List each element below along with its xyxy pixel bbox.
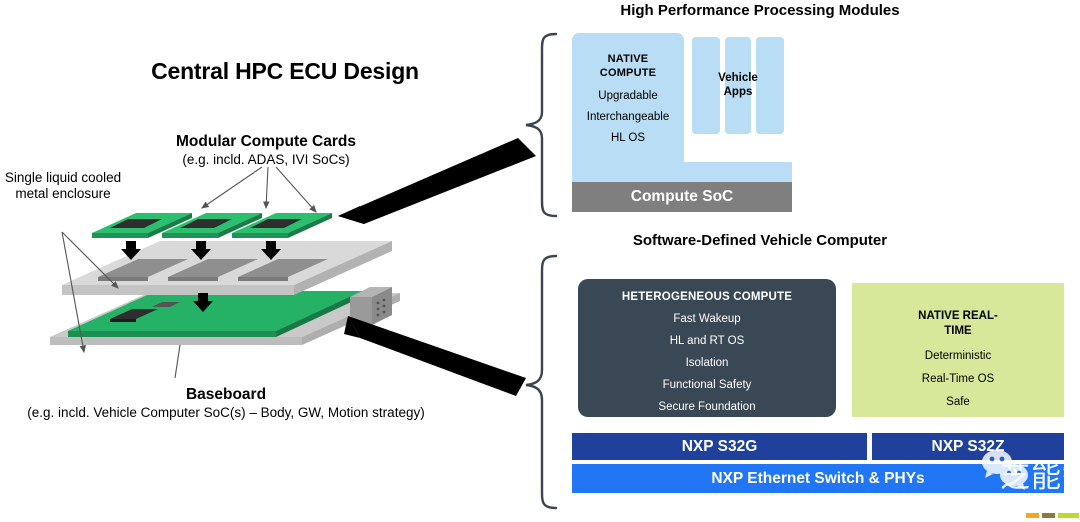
callout-baseboard-title: Baseboard [0, 386, 452, 405]
heterogeneous-compute-box: HETEROGENEOUS COMPUTE Fast Wakeup HL and… [578, 279, 836, 417]
page-title: Central HPC ECU Design [120, 58, 450, 85]
native-real-time-heading-line2: TIME [852, 324, 1064, 339]
callout-enclosure: Single liquid cooled metal enclosure [4, 170, 122, 203]
vehicle-apps-line2: Apps [690, 85, 786, 99]
high-performance-processing-modules-title: High Performance Processing Modules [560, 2, 960, 19]
heterogeneous-item-2: Isolation [578, 357, 836, 369]
heterogeneous-item-3: Functional Safety [578, 379, 836, 391]
software-defined-vehicle-computer-title: Software-Defined Vehicle Computer [560, 232, 960, 249]
native-real-time-item-0: Deterministic [852, 350, 1064, 362]
heterogeneous-compute-heading: HETEROGENEOUS COMPUTE [578, 291, 836, 303]
callout-baseboard-subtitle: (e.g. incld. Vehicle Computer SoC(s) – B… [0, 405, 452, 421]
ecu-3d-illustration [40, 185, 460, 390]
watermark-text: 芝能智芯 [1000, 452, 1080, 496]
heterogeneous-item-4: Secure Foundation [578, 401, 836, 413]
compute-soc-bar: Compute SoC [572, 182, 792, 212]
native-real-time-heading-line1: NATIVE REAL- [852, 309, 1064, 324]
vehicle-apps-line1: Vehicle [690, 71, 786, 85]
native-compute-item-1: Interchangeable [572, 111, 684, 123]
native-real-time-item-1: Real-Time OS [852, 373, 1064, 385]
callout-cards-subtitle: (e.g. incld. ADAS, IVI SoCs) [148, 152, 384, 168]
callout-cards-title: Modular Compute Cards [148, 133, 384, 152]
callout-baseboard: Baseboard (e.g. incld. Vehicle Computer … [0, 386, 452, 421]
brace-bottom-panel [512, 252, 562, 514]
nxp-s32g-bar: NXP S32G [572, 433, 867, 460]
vehicle-apps-label: Vehicle Apps [690, 71, 786, 100]
native-real-time-box: NATIVE REAL- TIME Deterministic Real-Tim… [852, 283, 1064, 417]
brace-top-panel [512, 30, 562, 222]
heterogeneous-item-0: Fast Wakeup [578, 313, 836, 325]
heterogeneous-item-1: HL and RT OS [578, 335, 836, 347]
native-compute-heading-line2: COMPUTE [572, 67, 684, 81]
native-compute-item-0: Upgradable [572, 90, 684, 102]
native-compute-heading-line1: NATIVE [572, 53, 684, 67]
native-compute-item-2: HL OS [572, 132, 684, 144]
callout-modular-compute-cards: Modular Compute Cards (e.g. incld. ADAS,… [148, 133, 384, 168]
nxp-logo-icon [1026, 508, 1080, 522]
native-compute-text-group: NATIVE COMPUTE Upgradable Interchangeabl… [572, 53, 684, 144]
native-real-time-item-2: Safe [852, 396, 1064, 408]
central-hpc-ecu-illustration-panel: Central HPC ECU Design [0, 0, 540, 517]
